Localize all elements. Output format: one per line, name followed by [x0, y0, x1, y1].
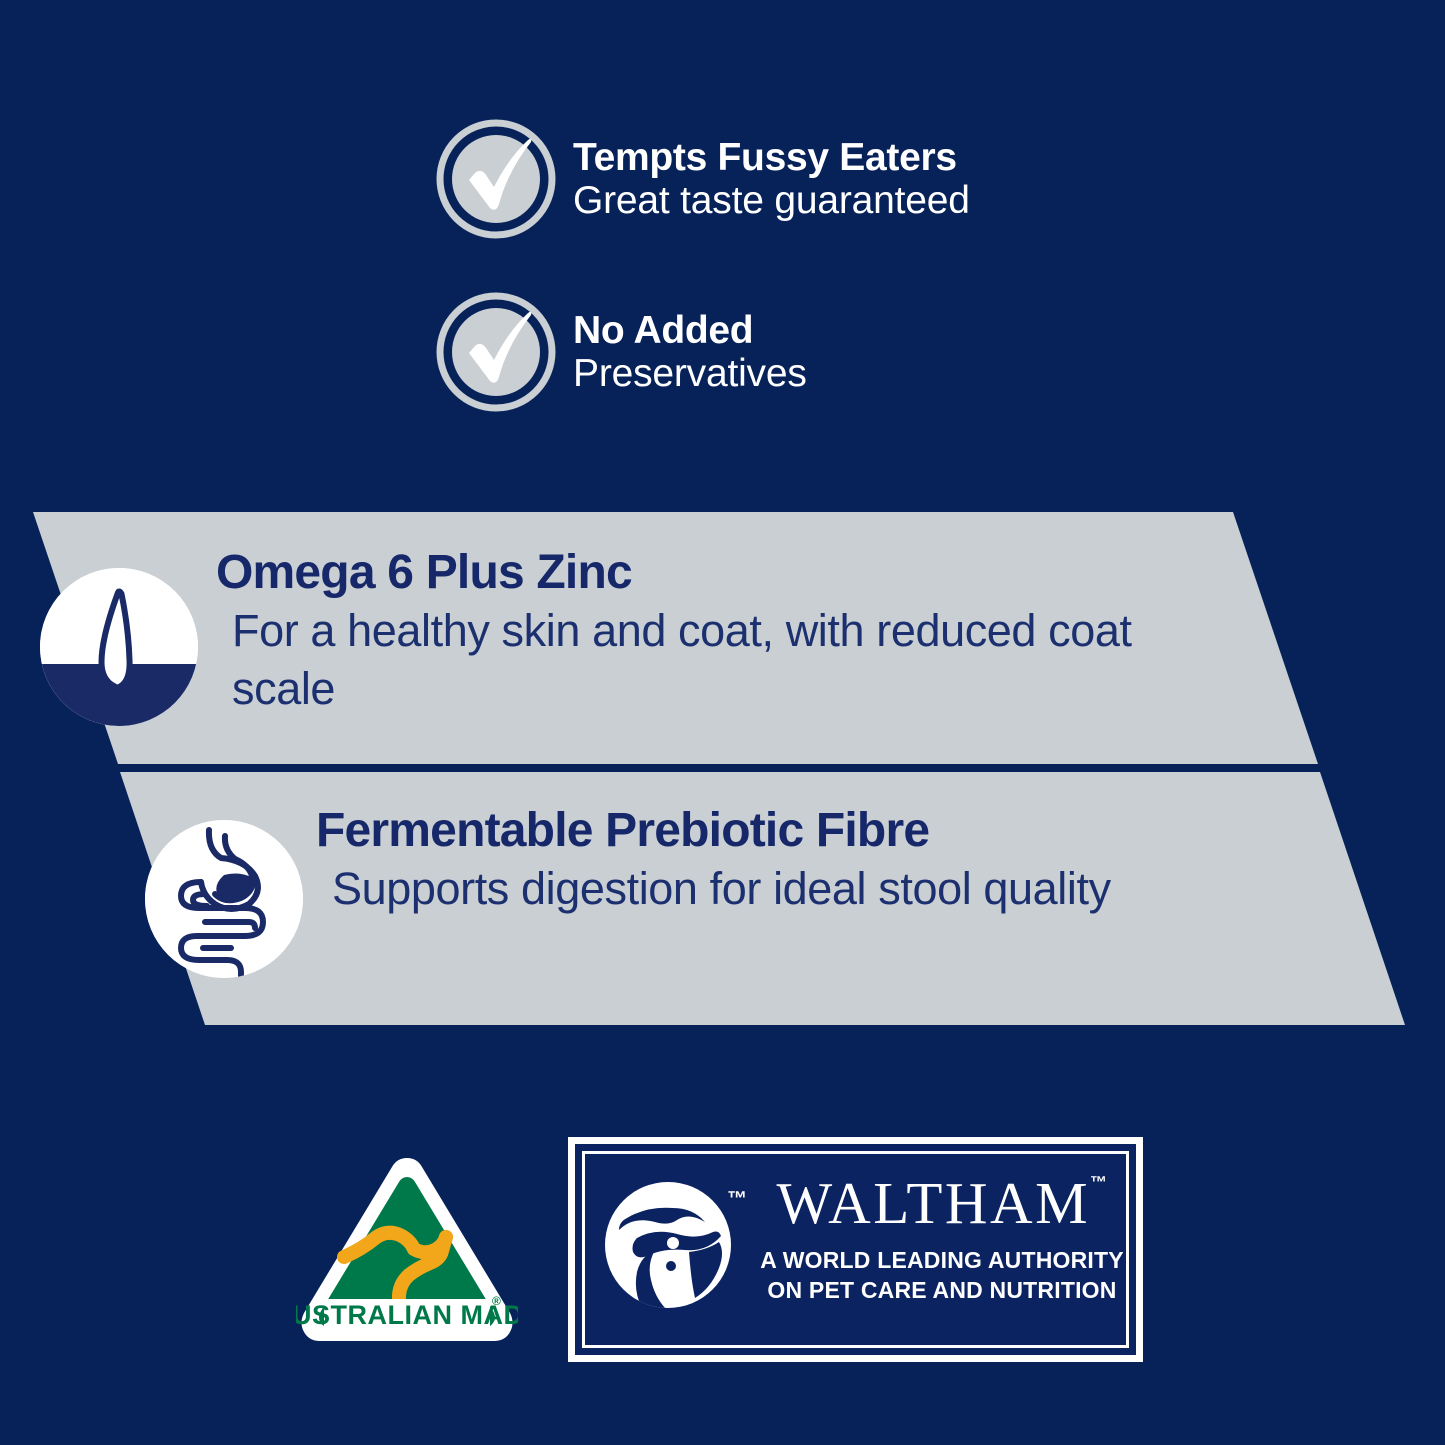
claim-title: No Added — [573, 311, 807, 350]
claim-text: No Added Preservatives — [573, 311, 807, 393]
hair-follicle-icon — [40, 568, 198, 726]
australian-made-label: AUSTRALIAN MADE — [296, 1300, 518, 1330]
packaging-panel: Tempts Fussy Eaters Great taste guarante… — [0, 0, 1445, 1445]
waltham-wordmark-block: WALTHAM™ A WORLD LEADING AUTHORITY ON PE… — [749, 1174, 1135, 1306]
banner-divider — [0, 764, 1445, 773]
benefit-title: Omega 6 Plus Zinc — [216, 548, 1216, 598]
check-circle-icon — [436, 119, 556, 239]
claim-title: Tempts Fussy Eaters — [573, 138, 970, 177]
waltham-tagline-line2: ON PET CARE AND NUTRITION — [749, 1275, 1135, 1305]
waltham-name: WALTHAM™ — [776, 1174, 1107, 1233]
waltham-tagline: A WORLD LEADING AUTHORITY ON PET CARE AN… — [749, 1245, 1135, 1306]
benefit-text-omega: Omega 6 Plus Zinc For a healthy skin and… — [216, 548, 1216, 718]
logo-row: AUSTRALIAN MADE ® — [0, 1133, 1445, 1368]
waltham-logo: ™ WALTHAM™ A WORLD LEADING AUTHORITY ON … — [568, 1137, 1143, 1362]
claim-item: Tempts Fussy Eaters Great taste guarante… — [436, 119, 970, 239]
claim-subtitle: Great taste guaranteed — [573, 181, 970, 220]
benefit-body: Supports digestion for ideal stool quali… — [316, 860, 1316, 918]
waltham-mark-tm: ™ — [727, 1188, 748, 1211]
claim-item: No Added Preservatives — [436, 292, 807, 412]
claim-text: Tempts Fussy Eaters Great taste guarante… — [573, 138, 970, 220]
check-circle-icon — [436, 292, 556, 412]
waltham-name-tm: ™ — [1090, 1173, 1108, 1192]
benefit-text-fibre: Fermentable Prebiotic Fibre Supports dig… — [316, 806, 1316, 918]
registered-mark: ® — [492, 1294, 501, 1308]
benefit-body: For a healthy skin and coat, with reduce… — [216, 602, 1216, 717]
waltham-tagline-line1: A WORLD LEADING AUTHORITY — [749, 1245, 1135, 1275]
waltham-dog-cat-icon — [603, 1180, 733, 1310]
digestive-system-icon — [145, 820, 303, 978]
claim-subtitle: Preservatives — [573, 354, 807, 393]
australian-made-logo: AUSTRALIAN MADE ® — [296, 1153, 518, 1348]
benefit-title: Fermentable Prebiotic Fibre — [316, 806, 1316, 856]
waltham-name-text: WALTHAM — [776, 1170, 1090, 1236]
